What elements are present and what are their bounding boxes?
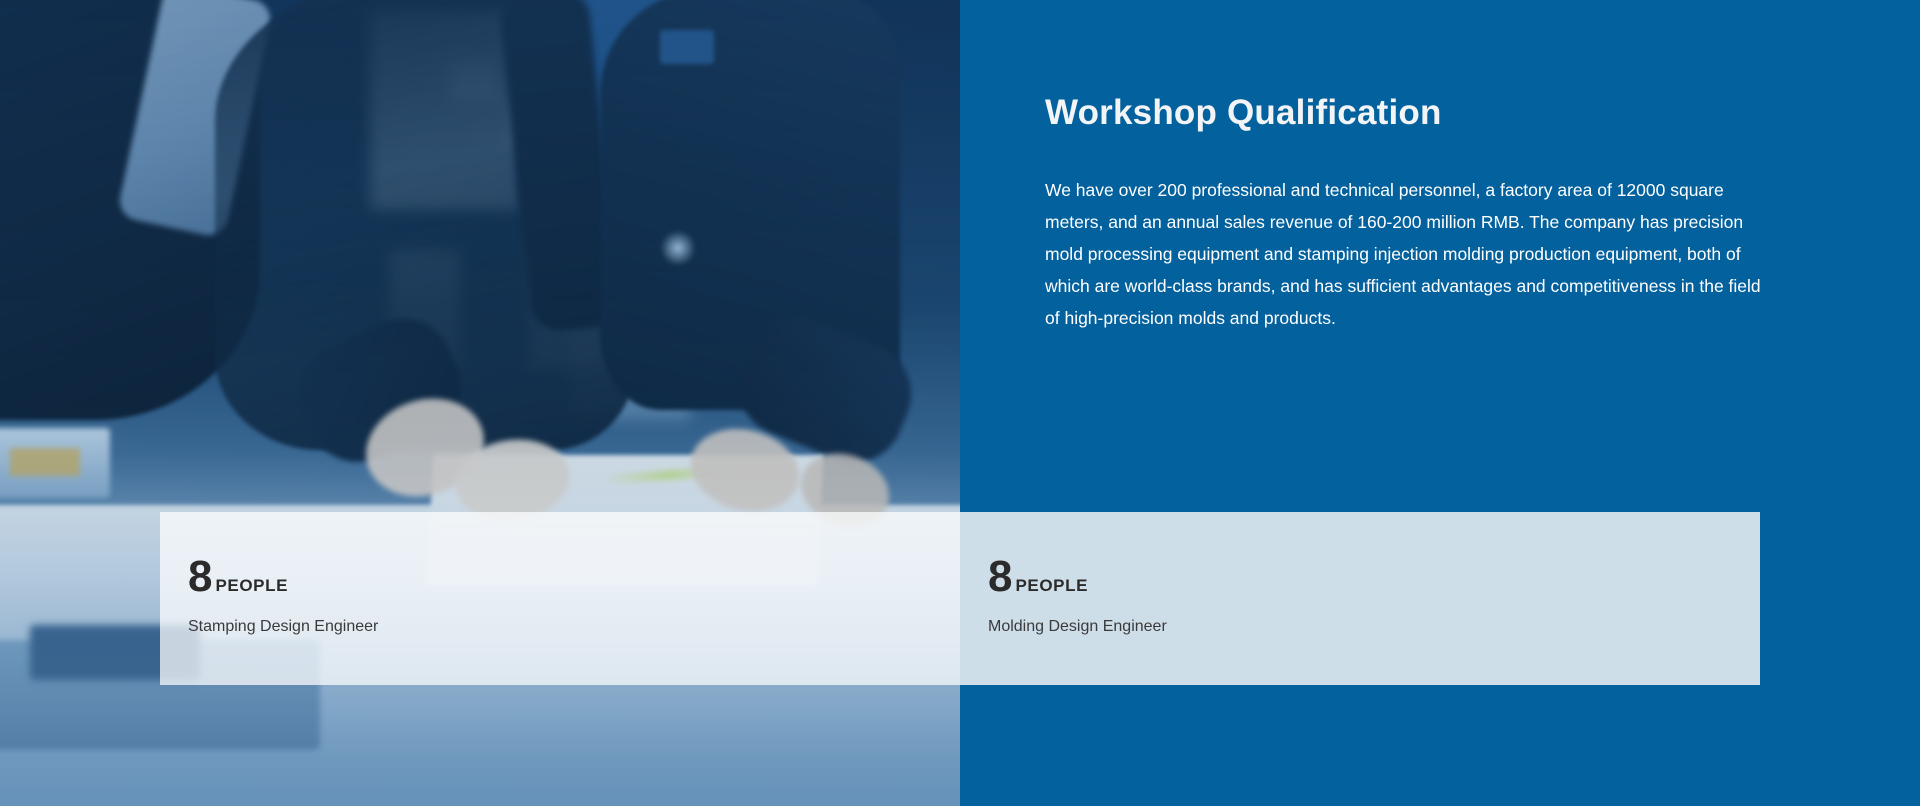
stat-card-molding: 8 PEOPLE Molding Design Engineer: [960, 512, 1760, 685]
content-panel: Workshop Qualification We have over 200 …: [960, 0, 1920, 806]
stat-unit: PEOPLE: [215, 576, 288, 596]
photo-blue-tint: [0, 0, 960, 806]
workshop-photo: [0, 0, 960, 806]
description-paragraph: We have over 200 professional and techni…: [1045, 174, 1775, 334]
stat-label: Stamping Design Engineer: [188, 618, 960, 636]
stat-card-stamping: 8 PEOPLE Stamping Design Engineer: [160, 512, 960, 685]
stats-row: 8 PEOPLE Stamping Design Engineer 8 PEOP…: [160, 512, 1760, 685]
stat-headline: 8 PEOPLE: [988, 555, 1760, 599]
copy-block: Workshop Qualification We have over 200 …: [1045, 92, 1775, 334]
stat-headline: 8 PEOPLE: [188, 555, 960, 599]
page-title: Workshop Qualification: [1045, 92, 1775, 134]
stat-number: 8: [188, 555, 211, 599]
stat-label: Molding Design Engineer: [988, 618, 1760, 636]
stat-unit: PEOPLE: [1015, 576, 1088, 596]
hero-section: Workshop Qualification We have over 200 …: [0, 0, 1920, 806]
stat-number: 8: [988, 555, 1011, 599]
